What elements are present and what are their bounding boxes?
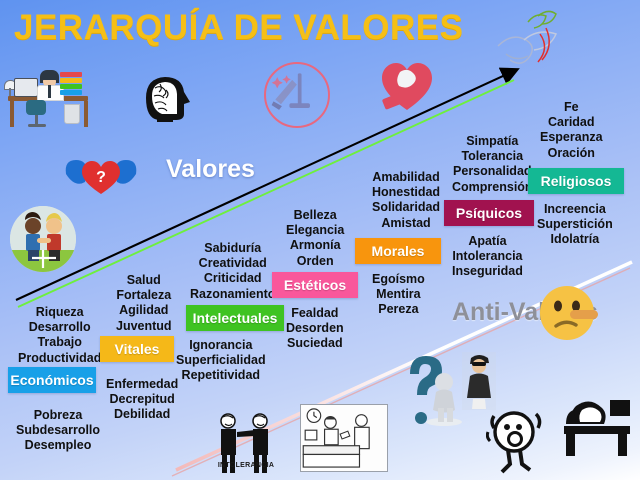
value-item: Amistad (372, 216, 440, 231)
value-item: Fe (540, 100, 603, 115)
value-item: Personalidad (452, 164, 533, 179)
value-item: Razonamiento (190, 287, 275, 302)
category-chip-label: Intelectuales (193, 311, 278, 325)
value-item: Riqueza (18, 305, 101, 320)
category-chip-psiquicos[interactable]: Psíquicos (444, 200, 534, 226)
values-morales: Amabilidad Honestidad Solidaridad Amista… (372, 170, 440, 231)
category-chip-label: Psíquicos (456, 206, 522, 220)
value-item: Solidaridad (372, 200, 440, 215)
value-item: Tolerancia (452, 149, 533, 164)
office-scene-icon (300, 404, 388, 472)
antivalues-economicos: Pobreza Subdesarrollo Desempleo (16, 408, 100, 454)
svg-text:?: ? (96, 169, 106, 186)
heart-hand-icon (380, 60, 436, 114)
value-item: Sabiduría (190, 241, 275, 256)
value-item: Belleza (286, 208, 344, 223)
value-item: Armonía (286, 238, 344, 253)
antivalues-morales: Egoísmo Mentira Pereza (372, 272, 425, 318)
category-chip-economicos[interactable]: Económicos (8, 367, 96, 393)
value-item: Orden (286, 254, 344, 269)
page-title: JERARQUÍA DE VALORES (14, 8, 464, 48)
value-item: Esperanza (540, 130, 603, 145)
category-chip-label: Vitales (115, 342, 160, 356)
value-item: Productividad (18, 351, 101, 366)
antivalue-item: Intolerancia (452, 249, 523, 264)
antivalues-intelectuales: Ignorancia Superficialidad Repetitividad (176, 338, 266, 384)
values-esteticos: Belleza Elegancia Armonía Orden (286, 208, 344, 269)
category-chip-intelectuales[interactable]: Intelectuales (186, 305, 284, 331)
kids-handshake-icon (10, 206, 76, 272)
value-item: Elegancia (286, 223, 344, 238)
value-item: Juventud (116, 319, 172, 334)
value-item: Trabajo (18, 335, 101, 350)
category-chip-label: Religiosos (541, 174, 612, 188)
values-vitales: Salud Fortaleza Agilidad Juventud (116, 273, 172, 334)
antivalue-item: Enfermedad (106, 377, 178, 392)
section-label-valores: Valores (166, 155, 255, 184)
antivalue-item: Egoísmo (372, 272, 425, 287)
value-item: Amabilidad (372, 170, 440, 185)
value-item: Creatividad (190, 256, 275, 271)
value-item: Desarrollo (18, 320, 101, 335)
antivalue-item: Desempleo (16, 438, 100, 453)
antivalues-vitales: Enfermedad Decrepitud Debilidad (106, 377, 178, 423)
dove-peace-icon (492, 6, 564, 68)
heart-strong-arms-icon: ? (62, 150, 140, 198)
antivalue-item: Fealdad (286, 306, 344, 321)
category-chip-label: Económicos (10, 373, 93, 387)
values-economicos: Riqueza Desarrollo Trabajo Productividad (18, 305, 101, 366)
value-item: Criticidad (190, 271, 275, 286)
brain-head-icon (138, 70, 194, 126)
meh-face-emoji-icon (536, 282, 598, 344)
category-chip-vitales[interactable]: Vitales (100, 336, 174, 362)
values-religiosos: Fe Caridad Esperanza Oración (540, 100, 603, 161)
antivalue-item: Decrepitud (106, 392, 178, 407)
question-mark-figure-icon (404, 352, 468, 426)
broom-cleaning-icon (264, 62, 330, 128)
intolerancia-caption: INTOLERANCIA (206, 462, 286, 469)
category-chip-religiosos[interactable]: Religiosos (528, 168, 624, 194)
antivalues-religiosos: Increencia Superstición Idolatría (537, 202, 613, 248)
antivalue-item: Repetitividad (176, 368, 266, 383)
value-item: Fortaleza (116, 288, 172, 303)
antivalue-item: Ignorancia (176, 338, 266, 353)
antivalue-item: Mentira (372, 287, 425, 302)
antivalue-item: Superstición (537, 217, 613, 232)
category-chip-morales[interactable]: Morales (355, 238, 441, 264)
antivalue-item: Idolatría (537, 232, 613, 247)
value-item: Agilidad (116, 303, 172, 318)
value-item: Salud (116, 273, 172, 288)
category-chip-label: Estéticos (284, 278, 346, 292)
woman-photo-icon (462, 352, 496, 410)
value-item: Oración (540, 146, 603, 161)
value-item: Comprensión (452, 180, 533, 195)
value-item: Honestidad (372, 185, 440, 200)
antivalue-item: Pereza (372, 302, 425, 317)
antivalue-item: Apatía (452, 234, 523, 249)
poster-canvas: JERARQUÍA DE VALORES Valores Anti-Valore… (0, 0, 640, 480)
antivalue-item: Suciedad (286, 336, 344, 351)
antivalue-item: Desorden (286, 321, 344, 336)
antivalue-item: Inseguridad (452, 264, 523, 279)
category-chip-label: Morales (372, 244, 425, 258)
value-item: Simpatía (452, 134, 533, 149)
antivalue-item: Subdesarrollo (16, 423, 100, 438)
antivalue-item: Increencia (537, 202, 613, 217)
values-intelectuales: Sabiduría Creatividad Criticidad Razonam… (190, 241, 275, 302)
screaming-figure-icon (486, 406, 548, 474)
antivalues-psiquicos: Apatía Intolerancia Inseguridad (452, 234, 523, 280)
category-chip-esteticos[interactable]: Estéticos (272, 272, 358, 298)
values-psiquicos: Simpatía Tolerancia Personalidad Compren… (452, 134, 533, 195)
value-item: Caridad (540, 115, 603, 130)
antivalue-item: Debilidad (106, 407, 178, 422)
antivalue-item: Pobreza (16, 408, 100, 423)
antivalues-esteticos: Fealdad Desorden Suciedad (286, 306, 344, 352)
desk-despair-icon (560, 396, 632, 460)
antivalue-item: Superficialidad (176, 353, 266, 368)
